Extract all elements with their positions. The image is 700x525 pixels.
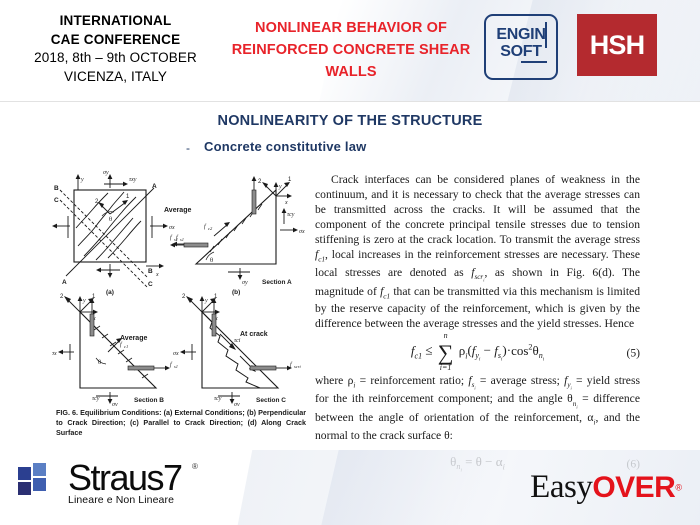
- svg-text:θ: θ: [109, 216, 112, 223]
- svg-text:τci: τci: [234, 338, 241, 344]
- svg-text:θ: θ: [98, 359, 101, 366]
- equation-6-alpha: αi: [496, 454, 505, 469]
- inline-symbol-fc1-b: fc1: [380, 285, 390, 298]
- enginsoft-logo: ENGIN SOFT: [484, 14, 558, 80]
- slide-title-line-3: WALLS: [222, 62, 480, 84]
- figure-6-drawing: y x A A B: [52, 168, 314, 406]
- easyover-logo-registered-mark: ®: [675, 483, 682, 493]
- equation-6-minus: −: [485, 454, 492, 469]
- inline-symbol-theta-n: θni: [567, 392, 577, 405]
- bullet-dash: -: [186, 141, 190, 155]
- figure-panel-c: f c1 y x 1 2 θ: [52, 294, 178, 406]
- section-subheading: Concrete constitutive law: [204, 139, 366, 154]
- svg-text:x: x: [284, 200, 288, 206]
- svg-text:f: f: [290, 361, 293, 368]
- equation-6-lhs: θni: [450, 454, 462, 469]
- svg-text:τcy: τcy: [92, 396, 100, 402]
- svg-text:2: 2: [60, 294, 64, 300]
- straus7-logo-square-4: [33, 478, 46, 491]
- enginsoft-logo-text: ENGIN SOFT: [486, 26, 556, 61]
- equation-5-lhs: fc1: [411, 343, 422, 358]
- svg-text:(b): (b): [232, 289, 240, 296]
- svg-text:y: y: [80, 177, 84, 183]
- inline-symbol-fsi: fsi: [468, 374, 475, 387]
- figure-panel-d: τci y x 1 2: [173, 294, 301, 406]
- conference-line-4: VICENZA, ITALY: [8, 68, 223, 87]
- svg-text:(a): (a): [106, 289, 114, 296]
- conference-line-1: INTERNATIONAL: [8, 12, 223, 31]
- summation-sigma: ∑: [438, 340, 454, 365]
- figure-panel-a: y x A A B: [52, 170, 190, 296]
- body-paragraph-1: Crack interfaces can be considered plane…: [315, 172, 640, 331]
- equation-5-row: fc1 ≤ n ∑ i=1 ρi(fyi − fsi)·cos2θni (5): [315, 342, 640, 363]
- section-heading: NONLINEARITY OF THE STRUCTURE: [0, 113, 700, 129]
- svg-text:x: x: [155, 272, 159, 278]
- equation-5-body: fc1 ≤ n ∑ i=1 ρi(fyi − fsi)·cos2θni: [315, 342, 640, 363]
- hsh-logo-text: HSH: [577, 14, 657, 76]
- straus7-logo-registered-mark: ®: [192, 462, 198, 471]
- svg-text:B: B: [148, 268, 153, 275]
- svg-text:C: C: [148, 281, 153, 288]
- svg-text:1: 1: [214, 294, 218, 300]
- slide-title-line-1: NONLINEAR BEHAVIOR OF: [222, 18, 480, 40]
- svg-text:σx: σx: [169, 225, 175, 231]
- svg-text:c2: c2: [208, 226, 213, 231]
- svg-text:f: f: [170, 361, 173, 368]
- summation-upper-limit: n: [444, 332, 448, 339]
- svg-text:σy: σy: [242, 280, 248, 286]
- equation-5-number: (5): [626, 346, 640, 359]
- straus7-logo-wordmark: Straus7: [68, 457, 182, 499]
- svg-text:2: 2: [258, 179, 262, 185]
- conference-line-3: 2018, 8th – 9th OCTOBER: [8, 49, 223, 68]
- svg-text:τxy: τxy: [129, 177, 137, 183]
- svg-text:Section A: Section A: [262, 279, 292, 286]
- body-paragraph-2-part-b: = reinforcement ratio;: [360, 374, 465, 387]
- easyover-logo: EasyOVER®: [530, 469, 682, 509]
- svg-text:Section B: Section B: [134, 397, 164, 404]
- svg-text:2: 2: [95, 199, 99, 205]
- equation-6-equals: =: [465, 454, 472, 469]
- hsh-logo: HSH: [577, 14, 657, 76]
- enginsoft-logo-line-1: ENGIN: [486, 26, 556, 43]
- svg-text:σy: σy: [112, 402, 118, 406]
- equation-5-fy: fyi: [472, 343, 481, 358]
- body-paragraph-2-part-c: = average stress;: [480, 374, 560, 387]
- figure-6: y x A A B: [52, 168, 314, 411]
- svg-text:y: y: [204, 298, 208, 304]
- svg-text:At crack: At crack: [240, 331, 268, 338]
- svg-text:Average: Average: [120, 335, 147, 342]
- svg-text:A: A: [152, 183, 157, 190]
- svg-text:y: y: [82, 298, 86, 304]
- svg-text:τcy: τcy: [214, 396, 222, 402]
- svg-text:f: f: [170, 234, 173, 241]
- inline-symbol-rho: ρi: [348, 374, 356, 387]
- enginsoft-logo-line-2: SOFT: [486, 43, 556, 60]
- svg-text:s1: s1: [174, 364, 178, 369]
- straus7-logo-square-3: [18, 482, 31, 495]
- svg-text:f: f: [120, 341, 123, 348]
- conference-info: INTERNATIONAL CAE CONFERENCE 2018, 8th –…: [8, 12, 223, 87]
- equation-6-theta: θ: [476, 454, 482, 469]
- slide-title: NONLINEAR BEHAVIOR OF REINFORCED CONCRET…: [222, 18, 480, 83]
- body-paragraph-2-part-a: where: [315, 374, 343, 387]
- svg-text:Average: Average: [164, 207, 191, 214]
- straus7-logo-tagline: Lineare e Non Lineare: [68, 494, 174, 506]
- svg-text:f: f: [204, 223, 207, 230]
- body-paragraph-2: where ρi = reinforcement ratio; fsi = av…: [315, 373, 640, 443]
- svg-text:1: 1: [92, 294, 96, 300]
- slide-title-line-2: REINFORCED CONCRETE SHEAR: [222, 40, 480, 62]
- svg-text:y: y: [278, 184, 282, 190]
- svg-text:σy: σy: [103, 170, 109, 176]
- svg-text:s1: s1: [180, 237, 184, 242]
- summation-lower-limit: i=1: [440, 364, 452, 371]
- straus7-logo-square-1: [18, 467, 31, 480]
- svg-text:θ: θ: [210, 257, 213, 264]
- svg-text:B: B: [54, 185, 59, 192]
- presentation-slide: INTERNATIONAL CAE CONFERENCE 2018, 8th –…: [0, 0, 700, 525]
- straus7-logo: Straus7 ® Lineare e Non Lineare: [18, 461, 218, 507]
- figure-caption: FIG. 6. Equilibrium Conditions: (a) Exte…: [56, 408, 306, 439]
- svg-text:A: A: [62, 279, 67, 286]
- easyover-logo-over: OVER: [592, 471, 675, 504]
- svg-text:2: 2: [182, 294, 186, 300]
- inline-symbol-fyi: fyi: [564, 374, 572, 387]
- straus7-logo-square-2: [33, 463, 46, 476]
- svg-text:c1: c1: [124, 344, 128, 349]
- svg-text:σy: σy: [234, 402, 240, 406]
- figure-panel-b: f c2 y x 1 2 θ: [164, 176, 305, 296]
- inline-symbol-fc1: fc1: [315, 248, 325, 261]
- svg-text:s1: s1: [174, 237, 178, 242]
- easyover-logo-easy: Easy: [530, 469, 592, 505]
- svg-text:Section C: Section C: [256, 397, 286, 404]
- svg-text:scri: scri: [294, 364, 301, 369]
- equation-5-minus: −: [484, 343, 491, 358]
- equation-5-cos: cos2θni: [511, 343, 544, 358]
- enginsoft-logo-bar-horizontal: [521, 61, 547, 63]
- svg-text:τcy: τcy: [287, 212, 295, 218]
- svg-text:σx: σx: [52, 351, 57, 357]
- conference-line-2: CAE CONFERENCE: [8, 31, 223, 50]
- svg-text:σx: σx: [299, 229, 305, 235]
- header-divider: [0, 101, 700, 102]
- svg-text:σx: σx: [173, 351, 179, 357]
- svg-text:C: C: [54, 197, 59, 204]
- svg-text:1: 1: [288, 177, 292, 183]
- equation-5-relation: ≤: [425, 343, 432, 358]
- svg-text:1: 1: [126, 194, 130, 200]
- summation-symbol: n ∑ i=1: [438, 343, 454, 363]
- body-text-column: Crack interfaces can be considered plane…: [315, 172, 640, 484]
- body-paragraph-1-part-a: Crack interfaces can be considered plane…: [315, 173, 640, 246]
- inline-symbol-fscri: fscri: [471, 266, 484, 279]
